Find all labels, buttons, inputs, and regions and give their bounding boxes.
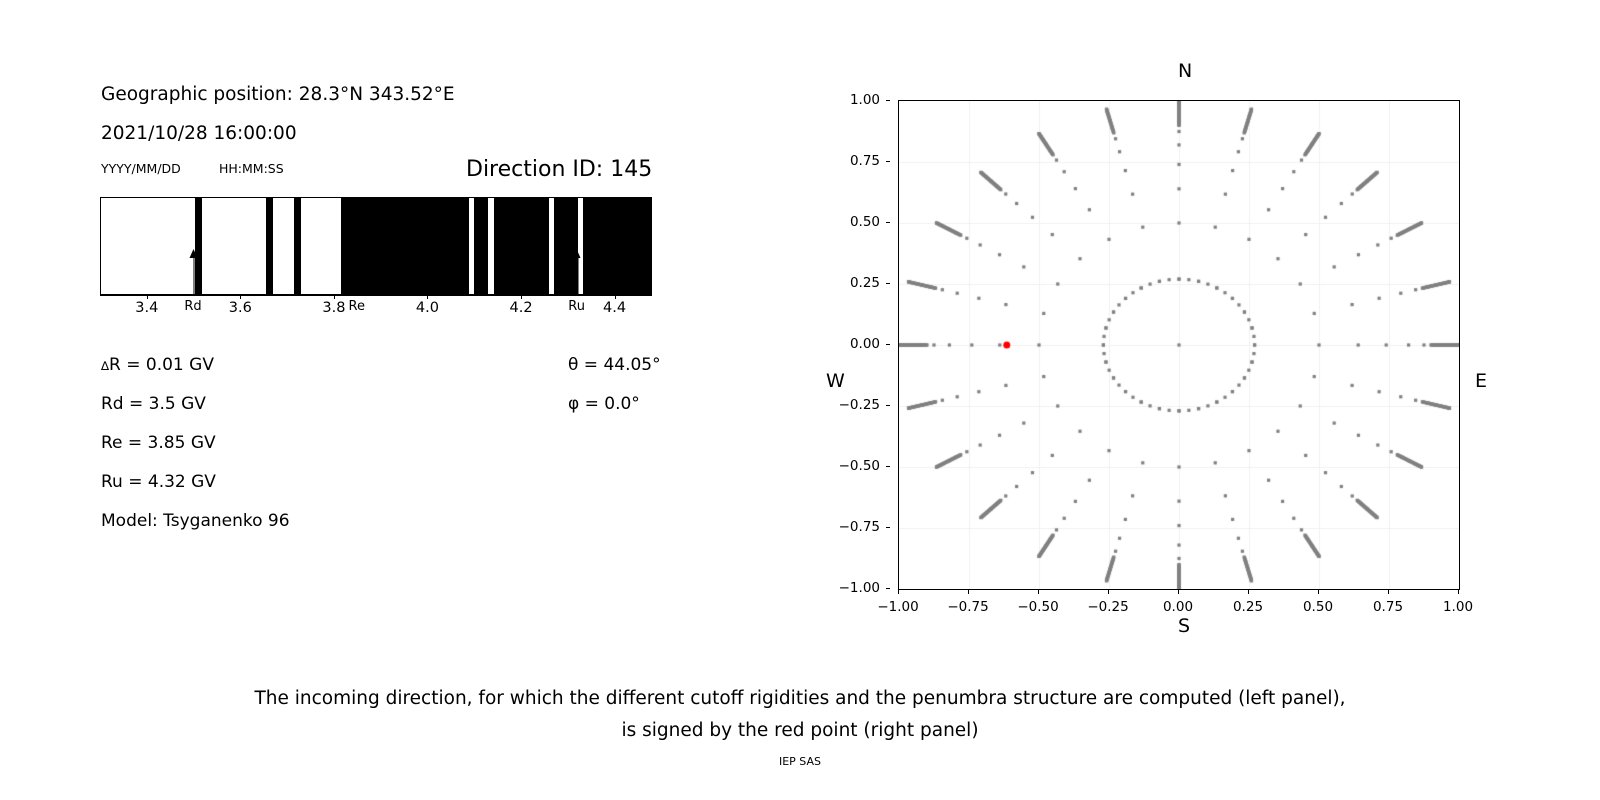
y-tick-mark <box>886 100 890 101</box>
penumbra-tick-label: 3.8 <box>322 300 345 316</box>
x-tick-mark <box>1248 590 1249 594</box>
penumbra-tick-label: 3.4 <box>135 300 158 316</box>
penumbra-forbidden-band <box>583 198 652 294</box>
y-tick-label: −0.50 <box>839 458 880 474</box>
x-tick-label: 0.75 <box>1373 599 1403 615</box>
x-tick-label: −0.25 <box>1087 599 1128 615</box>
caption-line-2: is signed by the red point (right panel) <box>0 715 1600 747</box>
y-tick-label: 0.00 <box>850 336 880 352</box>
penumbra-tick-label: 4.0 <box>416 300 439 316</box>
compass-north-label: N <box>1178 60 1192 82</box>
compass-east-label: E <box>1475 370 1487 392</box>
penumbra-tick-label: 3.6 <box>229 300 252 316</box>
y-tick-label: 0.25 <box>850 275 880 291</box>
y-tick-label: 0.75 <box>850 153 880 169</box>
caption-line-1: The incoming direction, for which the di… <box>0 683 1600 715</box>
axis-line <box>100 295 652 296</box>
arrow-up-icon <box>573 249 581 258</box>
penumbra-forbidden-band <box>266 198 273 294</box>
x-tick-mark <box>1388 590 1389 594</box>
y-tick-mark <box>886 344 890 345</box>
y-tick-label: −0.75 <box>839 519 880 535</box>
y-tick-mark <box>886 527 890 528</box>
arrow-up-icon <box>353 249 361 258</box>
rigidity-marker-label: Rd <box>184 299 201 314</box>
time-format-hint: HH:MM:SS <box>219 161 284 176</box>
x-tick-label: −0.75 <box>947 599 988 615</box>
penumbra-forbidden-band <box>195 198 202 294</box>
x-tick-label: 0.50 <box>1303 599 1333 615</box>
footer-label: IEP SAS <box>0 755 1600 768</box>
penumbra-tick-label: 4.4 <box>603 300 626 316</box>
penumbra-tick-label: 4.2 <box>509 300 532 316</box>
sky-map-canvas <box>899 101 1459 589</box>
penumbra-forbidden-band <box>474 198 488 294</box>
y-tick-mark <box>886 588 890 589</box>
penumbra-forbidden-band <box>294 198 301 294</box>
x-tick-label: 0.25 <box>1233 599 1263 615</box>
rigidity-marker-label: Re <box>349 299 365 314</box>
arrow-shaft <box>577 253 579 296</box>
y-tick-mark <box>886 222 890 223</box>
penumbra-tick-mark <box>427 295 428 299</box>
penumbra-tick-mark <box>521 295 522 299</box>
date-format-hint: YYYY/MM/DD <box>101 161 181 176</box>
x-tick-label: 1.00 <box>1443 599 1473 615</box>
sky-map-panel: N S W E −1.00−0.75−0.50−0.250.000.250.50… <box>820 40 1520 660</box>
penumbra-tick-mark <box>147 295 148 299</box>
param-phi: φ = 0.0° <box>568 394 640 414</box>
figure-caption: The incoming direction, for which the di… <box>0 683 1600 747</box>
param-rd: Rd = 3.5 GV <box>101 394 206 414</box>
y-tick-label: −1.00 <box>839 580 880 596</box>
x-tick-mark <box>1318 590 1319 594</box>
penumbra-forbidden-band <box>341 198 469 294</box>
param-delta-r-text: R = 0.01 GV <box>109 355 214 375</box>
delta-symbol: ∆ <box>101 359 109 373</box>
penumbra-forbidden-band <box>554 198 578 294</box>
x-tick-mark <box>898 590 899 594</box>
y-tick-mark <box>886 405 890 406</box>
arrow-shaft <box>193 253 195 296</box>
y-tick-label: −0.25 <box>839 397 880 413</box>
datetime-label: 2021/10/28 16:00:00 <box>101 123 297 144</box>
x-tick-label: −0.50 <box>1017 599 1058 615</box>
penumbra-bar <box>100 197 652 295</box>
penumbra-chart <box>100 197 652 295</box>
param-delta-r: ∆R = 0.01 GV <box>101 355 214 375</box>
param-ru: Ru = 4.32 GV <box>101 472 216 492</box>
x-tick-mark <box>1458 590 1459 594</box>
left-panel: Geographic position: 28.3°N 343.52°E 202… <box>0 0 760 660</box>
arrow-shaft <box>357 253 359 296</box>
x-tick-mark <box>1108 590 1109 594</box>
sky-map-plot-area <box>898 100 1460 590</box>
x-tick-mark <box>1038 590 1039 594</box>
param-re: Re = 3.85 GV <box>101 433 216 453</box>
penumbra-forbidden-band <box>494 198 549 294</box>
penumbra-tick-mark <box>240 295 241 299</box>
penumbra-tick-mark <box>334 295 335 299</box>
y-tick-mark <box>886 466 890 467</box>
rigidity-marker-label: Ru <box>568 299 585 314</box>
penumbra-axis: 3.43.63.84.04.24.4RdReRu <box>100 295 652 345</box>
y-tick-mark <box>886 283 890 284</box>
x-tick-mark <box>968 590 969 594</box>
x-tick-mark <box>1178 590 1179 594</box>
x-tick-label: −1.00 <box>877 599 918 615</box>
y-tick-label: 0.50 <box>850 214 880 230</box>
param-model: Model: Tsyganenko 96 <box>101 511 290 531</box>
geographic-position-label: Geographic position: 28.3°N 343.52°E <box>101 84 455 105</box>
direction-id-label: Direction ID: 145 <box>466 157 652 182</box>
y-axis-ticks: −1.00−0.75−0.50−0.250.000.250.500.751.00 <box>820 100 890 588</box>
x-axis-ticks: −1.00−0.75−0.50−0.250.000.250.500.751.00 <box>898 590 1460 630</box>
y-tick-mark <box>886 161 890 162</box>
y-tick-label: 1.00 <box>850 92 880 108</box>
arrow-up-icon <box>189 249 197 258</box>
x-tick-label: 0.00 <box>1163 599 1193 615</box>
param-theta: θ = 44.05° <box>568 355 661 375</box>
penumbra-tick-mark <box>615 295 616 299</box>
